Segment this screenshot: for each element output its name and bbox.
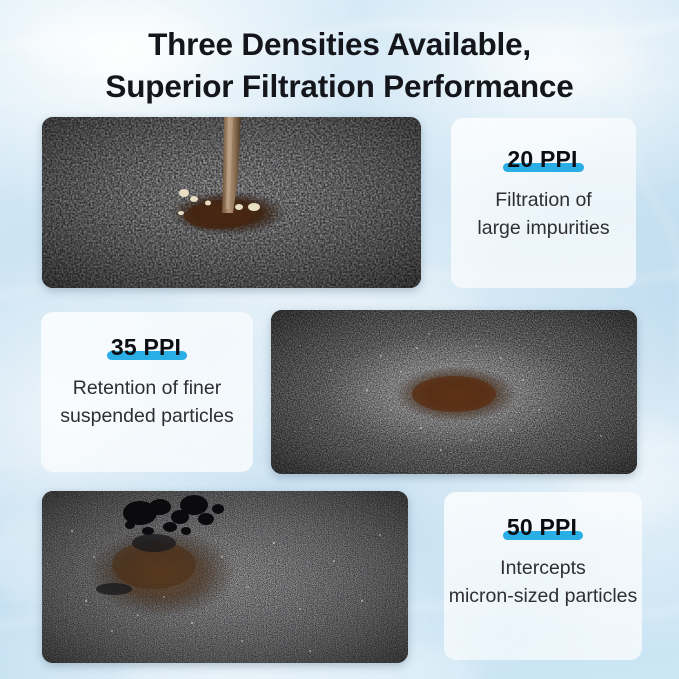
foam-photo-20ppi xyxy=(42,117,421,288)
text-block-35ppi: 35 PPI Retention of finer suspended part… xyxy=(41,334,253,430)
ppi-description-35ppi: Retention of finer suspended particles xyxy=(41,375,253,430)
ppi-badge-20ppi: 20 PPI xyxy=(503,146,583,173)
foam-photo-50ppi xyxy=(42,491,408,663)
text-block-50ppi: 50 PPI Intercepts micron-sized particles xyxy=(432,514,654,610)
text-block-20ppi: 20 PPI Filtration of large impurities xyxy=(451,146,636,242)
product-infographic: Three Densities Available, Superior Filt… xyxy=(0,0,679,679)
foam-photo-35ppi xyxy=(271,310,637,474)
ppi-badge-50ppi: 50 PPI xyxy=(503,514,583,541)
ppi-badge-35ppi: 35 PPI xyxy=(107,334,187,361)
page-title: Three Densities Available, Superior Filt… xyxy=(0,24,679,107)
ppi-label-50ppi: 50 PPI xyxy=(507,514,577,540)
ppi-label-20ppi: 20 PPI xyxy=(507,146,577,172)
ppi-description-20ppi: Filtration of large impurities xyxy=(451,187,636,242)
ppi-label-35ppi: 35 PPI xyxy=(111,334,181,360)
ppi-description-50ppi: Intercepts micron-sized particles xyxy=(432,555,654,610)
